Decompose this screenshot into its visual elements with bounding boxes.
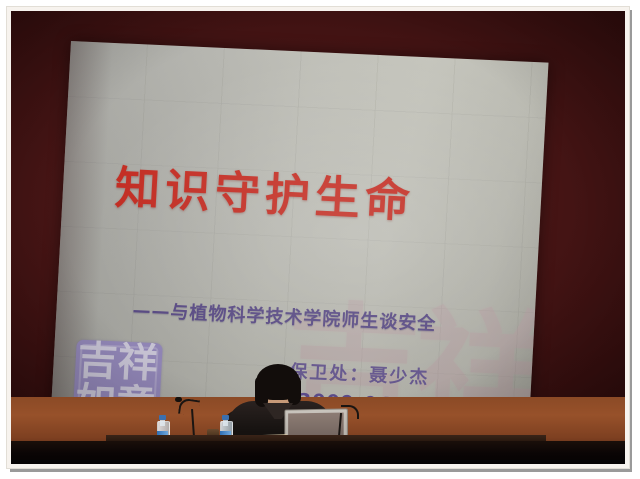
table-front-panel	[11, 441, 625, 464]
photo-frame: 吉祥 如意 知识守护生命 ——与植物科学技术学院师生谈安全 保卫处：聂少杰 20…	[0, 0, 640, 479]
photograph: 吉祥 如意 知识守护生命 ——与植物科学技术学院师生谈安全 保卫处：聂少杰 20…	[11, 11, 625, 464]
